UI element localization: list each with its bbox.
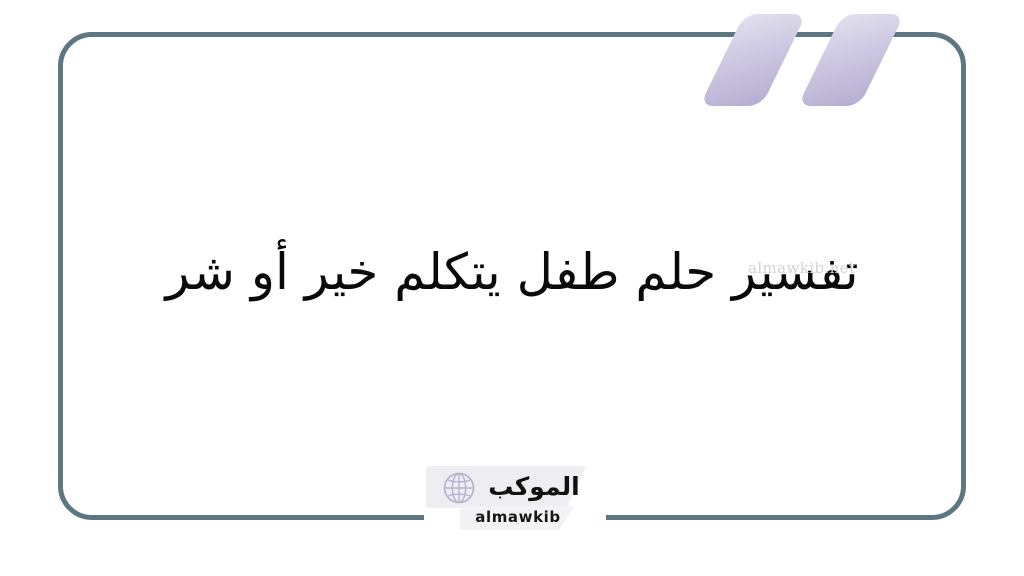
decorative-quote-marks bbox=[690, 14, 950, 124]
poster-canvas: تفسير حلم طفل يتكلم خير أو شر almawkib.n… bbox=[0, 0, 1024, 576]
brand-logo[interactable]: الموكب almawkib bbox=[426, 466, 608, 532]
quote-bar-right-icon bbox=[798, 14, 905, 106]
logo-arabic-name: الموكب bbox=[484, 469, 584, 505]
quote-bar-left-icon bbox=[700, 14, 807, 106]
logo-latin-name: almawkib bbox=[458, 508, 578, 526]
globe-icon bbox=[442, 471, 476, 505]
site-watermark: almawkib.net bbox=[748, 259, 855, 277]
